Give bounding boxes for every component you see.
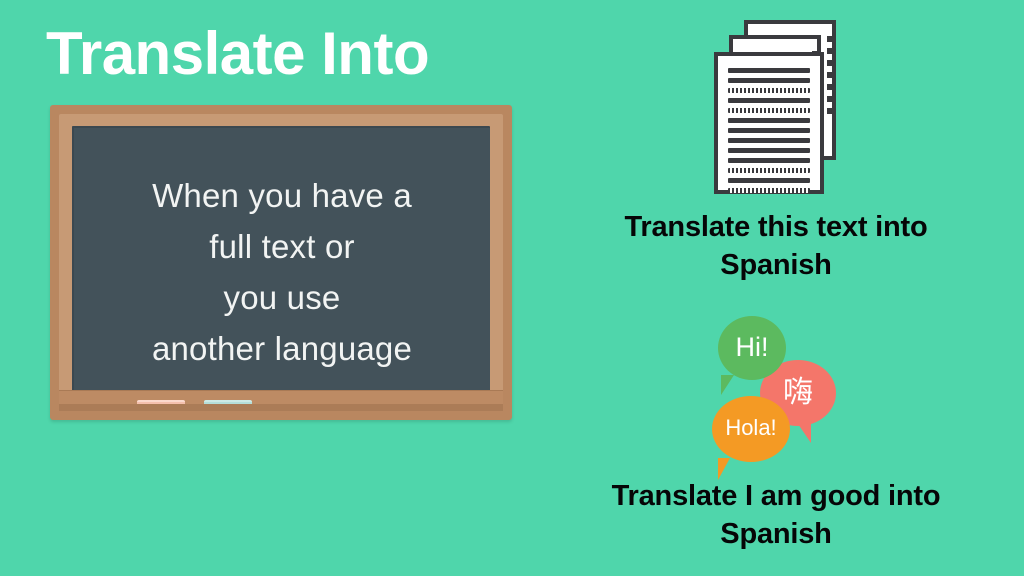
caption-translate-text: Translate this text into Spanish [576, 208, 976, 284]
document-notch [827, 108, 836, 114]
stacked-documents-icon [712, 20, 836, 196]
document-line [728, 148, 810, 153]
slide-canvas: Translate Into When you have a full text… [0, 0, 1024, 576]
document-line [728, 78, 810, 83]
document-page-front [714, 52, 824, 194]
speech-bubble-hola-icon: Hola! [712, 396, 790, 462]
document-line [728, 188, 810, 193]
chalk-blue-icon [204, 400, 252, 411]
speech-bubble-hola-tail [718, 458, 740, 480]
document-line [728, 128, 810, 133]
document-line [728, 98, 810, 103]
chalkboard-line-4: another language [74, 323, 490, 374]
chalkboard-line-3: you use [74, 272, 490, 323]
caption-translate-phrase: Translate I am good into Spanish [576, 477, 976, 553]
document-text-lines [728, 68, 810, 193]
document-notch [827, 36, 836, 42]
page-title: Translate Into [46, 22, 429, 85]
speech-bubble-hola-label: Hola! [725, 417, 776, 441]
document-line [728, 158, 810, 163]
document-notch [827, 72, 836, 78]
document-line [728, 168, 810, 173]
document-notch [827, 84, 836, 90]
speech-bubble-hi-tail [721, 375, 742, 395]
chalkboard-surface: When you have a full text or you use ano… [72, 126, 490, 391]
document-line [728, 68, 810, 73]
document-line [728, 118, 810, 123]
document-notch [827, 96, 836, 102]
document-line [728, 108, 810, 113]
chalk-pink-icon [137, 400, 185, 411]
document-line [728, 178, 810, 183]
speech-bubble-hi-label: Hi! [736, 334, 769, 363]
document-line [728, 138, 810, 143]
document-notch [827, 48, 836, 54]
speech-bubble-hi-icon: Hi! [718, 316, 786, 380]
document-notch [827, 60, 836, 66]
document-notches-back [827, 36, 836, 114]
speech-bubbles-group: Hi! 嗨 Hola! [712, 316, 852, 472]
document-line [728, 88, 810, 93]
chalkboard-text: When you have a full text or you use ano… [74, 170, 490, 374]
chalkboard: When you have a full text or you use ano… [50, 105, 512, 420]
chalkboard-ledge [59, 390, 503, 411]
chalkboard-line-1: When you have a [74, 170, 490, 221]
chalkboard-line-2: full text or [74, 221, 490, 272]
